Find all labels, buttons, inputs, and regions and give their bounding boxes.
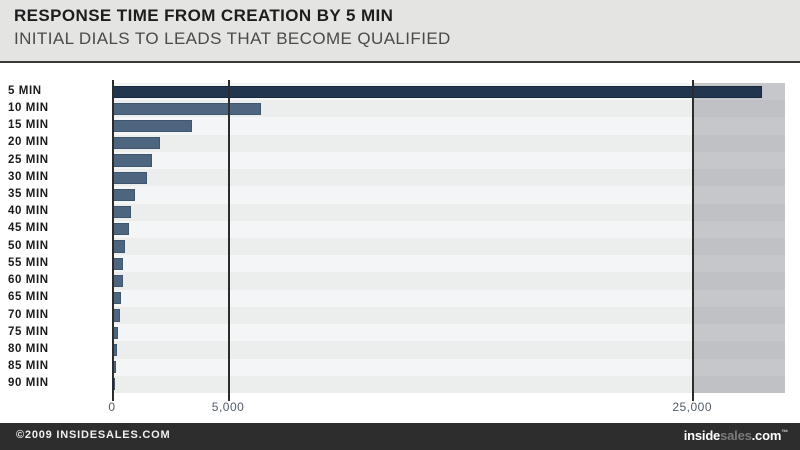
bar — [112, 172, 147, 184]
y-axis-tick-label: 40 MIN — [8, 205, 49, 217]
x-axis-tick-label: 5,000 — [212, 400, 245, 414]
x-gridline — [228, 80, 230, 394]
y-axis-tick-label: 50 MIN — [8, 240, 49, 252]
bar-row — [112, 83, 785, 100]
y-axis-tick-label: 65 MIN — [8, 291, 49, 303]
bar-row — [112, 135, 785, 152]
bar-row — [112, 100, 785, 117]
bar — [112, 189, 135, 201]
logo-part-inside: inside — [684, 428, 720, 443]
shaded-band — [692, 341, 785, 358]
shaded-band — [692, 169, 785, 186]
y-axis-tick-label: 45 MIN — [8, 222, 49, 234]
bar — [112, 206, 131, 218]
shaded-band — [692, 290, 785, 307]
row-background — [112, 204, 785, 221]
insidesales-logo: insidesales.com™ — [684, 428, 788, 443]
row-background — [112, 341, 785, 358]
row-background — [112, 152, 785, 169]
shaded-band — [692, 100, 785, 117]
bar — [112, 86, 762, 98]
chart-screenshot: RESPONSE TIME FROM CREATION BY 5 MIN INI… — [0, 0, 800, 450]
y-axis-tick-label: 55 MIN — [8, 257, 49, 269]
bar-row — [112, 221, 785, 238]
plot-area — [112, 83, 785, 393]
x-axis-tick-label: 25,000 — [672, 400, 712, 414]
bar-row — [112, 307, 785, 324]
bar-row — [112, 238, 785, 255]
shaded-band — [692, 376, 785, 393]
shaded-band — [692, 117, 785, 134]
bar-row — [112, 359, 785, 376]
shaded-band — [692, 359, 785, 376]
y-axis-tick-label: 35 MIN — [8, 188, 49, 200]
bar-row — [112, 152, 785, 169]
row-background — [112, 169, 785, 186]
x-gridline — [692, 80, 694, 394]
y-axis-tick-label: 20 MIN — [8, 136, 49, 148]
row-background — [112, 359, 785, 376]
row-background — [112, 135, 785, 152]
y-axis-tick-label: 90 MIN — [8, 377, 49, 389]
chart-footer: ©2009 INSIDESALES.COM insidesales.com™ — [0, 423, 800, 450]
row-background — [112, 376, 785, 393]
shaded-band — [692, 135, 785, 152]
bar-row — [112, 186, 785, 203]
bar-row — [112, 324, 785, 341]
bar-row — [112, 376, 785, 393]
bar — [112, 154, 152, 166]
row-background — [112, 324, 785, 341]
logo-part-com: .com — [752, 428, 782, 443]
row-background — [112, 255, 785, 272]
y-axis-labels: 5 MIN10 MIN15 MIN20 MIN25 MIN30 MIN35 MI… — [0, 83, 108, 393]
chart-header: RESPONSE TIME FROM CREATION BY 5 MIN INI… — [0, 0, 800, 63]
bar-row — [112, 255, 785, 272]
row-background — [112, 117, 785, 134]
bar-row — [112, 272, 785, 289]
row-background — [112, 290, 785, 307]
bar-row — [112, 204, 785, 221]
shaded-band — [692, 238, 785, 255]
shaded-band — [692, 272, 785, 289]
y-axis-tick-label: 75 MIN — [8, 326, 49, 338]
bar-row — [112, 341, 785, 358]
bar — [112, 103, 261, 115]
shaded-band — [692, 307, 785, 324]
bar — [112, 137, 160, 149]
page-title: RESPONSE TIME FROM CREATION BY 5 MIN — [14, 6, 393, 26]
logo-part-sales: sales — [720, 428, 752, 443]
logo-trademark: ™ — [781, 430, 788, 437]
page-subtitle: INITIAL DIALS TO LEADS THAT BECOME QUALI… — [14, 29, 451, 49]
y-axis-tick-label: 85 MIN — [8, 360, 49, 372]
shaded-band — [692, 186, 785, 203]
shaded-band — [692, 221, 785, 238]
x-axis-tick-label: 0 — [108, 400, 115, 414]
bar-row — [112, 117, 785, 134]
y-axis-tick-label: 15 MIN — [8, 119, 49, 131]
y-axis-tick-label: 30 MIN — [8, 171, 49, 183]
shaded-band — [692, 152, 785, 169]
shaded-band — [692, 324, 785, 341]
row-background — [112, 221, 785, 238]
bar-rows — [112, 83, 785, 393]
y-axis-tick-label: 70 MIN — [8, 309, 49, 321]
y-axis-tick-label: 25 MIN — [8, 154, 49, 166]
y-axis-tick-label: 80 MIN — [8, 343, 49, 355]
y-axis-line — [112, 80, 114, 394]
y-axis-tick-label: 60 MIN — [8, 274, 49, 286]
row-background — [112, 238, 785, 255]
bar — [112, 120, 192, 132]
y-axis-tick-label: 5 MIN — [8, 85, 42, 97]
chart-body — [0, 65, 800, 418]
row-background — [112, 307, 785, 324]
y-axis-tick-label: 10 MIN — [8, 102, 49, 114]
shaded-band — [692, 204, 785, 221]
shaded-band — [692, 255, 785, 272]
bar-row — [112, 290, 785, 307]
copyright-text: ©2009 INSIDESALES.COM — [16, 429, 171, 441]
bar — [112, 223, 129, 235]
row-background — [112, 272, 785, 289]
row-background — [112, 186, 785, 203]
bar-row — [112, 169, 785, 186]
